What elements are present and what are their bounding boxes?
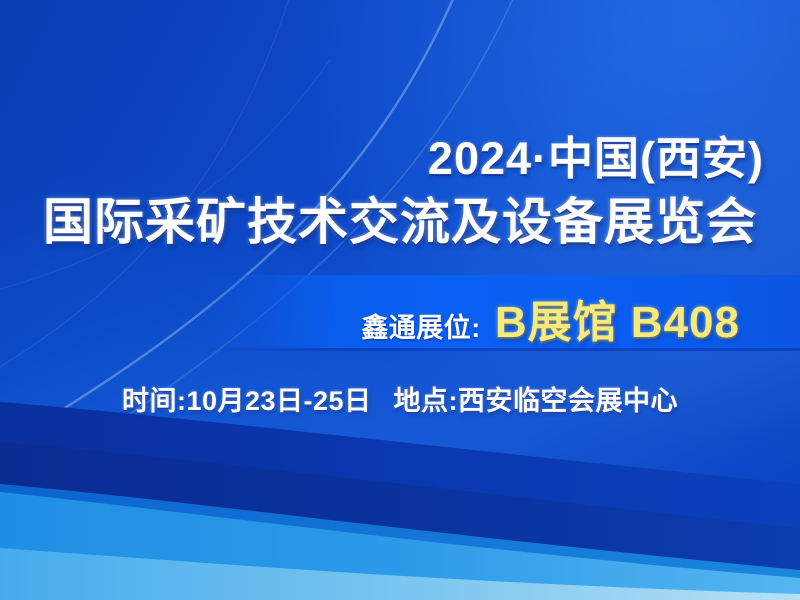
event-meta: 时间:10月23日-25日 地点:西安临空会展中心: [122, 379, 678, 418]
page-title-line-2: 国际采矿技术交流及设备展览会: [43, 182, 757, 254]
page-title-line-1: 2024·中国(西安): [428, 122, 764, 187]
event-place: 地点:西安临空会展中心: [394, 379, 679, 418]
booth-info: 鑫通展位: B展馆 B408: [361, 286, 740, 350]
exhibition-poster: 2024·中国(西安) 国际采矿技术交流及设备展览会 鑫通展位: B展馆 B40…: [0, 0, 800, 600]
booth-number: B展馆 B408: [495, 286, 740, 350]
booth-label: 鑫通展位:: [361, 306, 481, 345]
event-time: 时间:10月23日-25日: [122, 379, 372, 418]
